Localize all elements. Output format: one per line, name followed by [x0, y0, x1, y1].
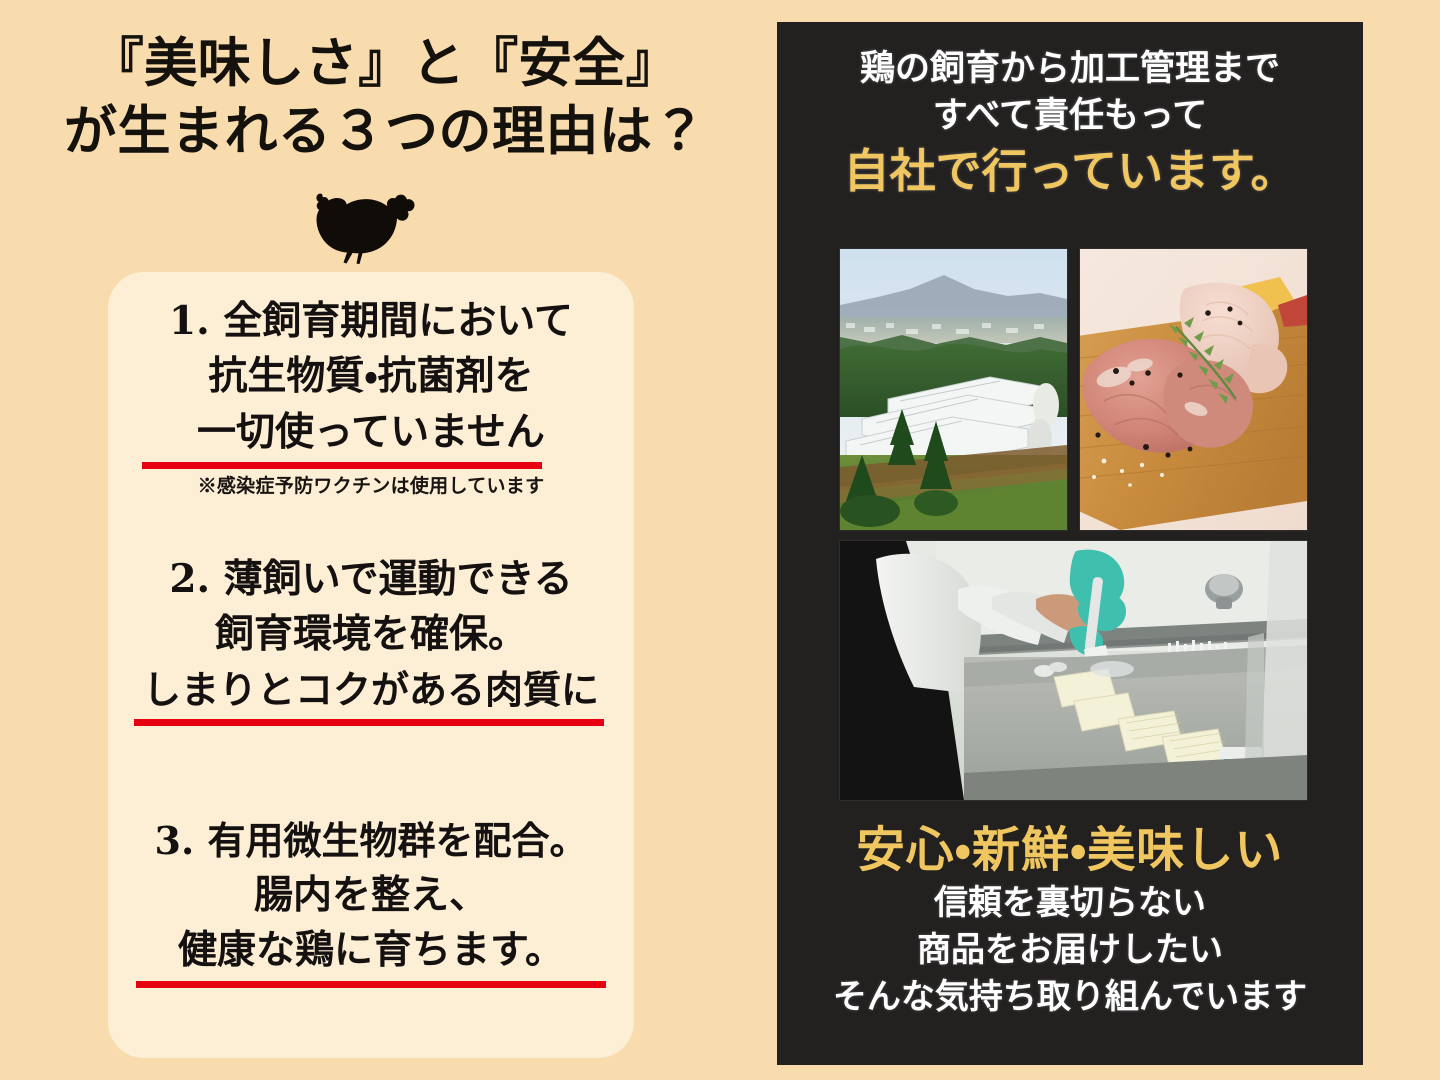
reason-2-line-2: 飼育環境を確保。 [108, 607, 634, 662]
headline-line-1: 『美味しさ』と『安全』 [0, 30, 770, 98]
footer-line-2: 商品をお届けしたい [777, 927, 1363, 974]
reason-2-line-1: 2. 薄飼いで運動できる [108, 552, 634, 607]
reason-1-underline [142, 462, 542, 469]
farm-aerial-photo [840, 249, 1067, 530]
page-headline: 『美味しさ』と『安全』 が生まれる３つの理由は？ [0, 30, 770, 166]
reason-1-line-3: 一切使っていません [108, 405, 634, 460]
panel-headline-line-1: 鶏の飼育から加工管理まで [777, 46, 1363, 93]
panel-headline-line-2: すべて責任もって [777, 93, 1363, 140]
panel-headline-line-3: 自社で行っています。 [777, 143, 1363, 199]
panel-headline: 鶏の飼育から加工管理まで すべて責任もって 自社で行っています。 [777, 46, 1363, 199]
reason-item-3: 3. 有用微生物群を配合。 腸内を整え、 健康な鶏に育ちます。 [108, 814, 634, 988]
footer-line-3: そんな気持ち取り組んでいます [777, 974, 1363, 1021]
poster-canvas: 『美味しさ』と『安全』 が生まれる３つの理由は？ 1. 全飼育期間において 抗生… [0, 0, 1440, 1080]
footer-line-1: 信頼を裏切らない [777, 880, 1363, 927]
reason-3-line-2: 腸内を整え、 [108, 868, 634, 923]
headline-line-2: が生まれる３つの理由は？ [0, 98, 770, 166]
raw-chicken-photo [1080, 249, 1307, 530]
chicken-silhouette-icon [305, 183, 435, 278]
footer-gold-line: 安心・新鮮・美味しい [777, 820, 1363, 880]
reason-2-line-3: しまりとコクがある肉質に [108, 663, 634, 717]
reason-3-line-3: 健康な鶏に育ちます。 [108, 923, 634, 978]
reason-1-note: ※感染症予防ワクチンは使用しています [108, 475, 634, 498]
left-column: 『美味しさ』と『安全』 が生まれる３つの理由は？ 1. 全飼育期間において 抗生… [0, 0, 770, 1080]
right-panel: 鶏の飼育から加工管理まで すべて責任もって 自社で行っています。 [777, 22, 1363, 1065]
panel-footer: 安心・新鮮・美味しい 信頼を裏切らない 商品をお届けしたい そんな気持ち取り組ん… [777, 820, 1363, 1021]
reason-2-underline [134, 719, 604, 726]
reason-item-1: 1. 全飼育期間において 抗生物質・抗菌剤を 一切使っていません ※感染症予防ワ… [108, 294, 634, 498]
reason-1-line-1: 1. 全飼育期間において [108, 294, 634, 349]
reason-item-2: 2. 薄飼いで運動できる 飼育環境を確保。 しまりとコクがある肉質に [108, 552, 634, 726]
reasons-card: 1. 全飼育期間において 抗生物質・抗菌剤を 一切使っていません ※感染症予防ワ… [108, 272, 634, 1058]
laboratory-inspection-photo [840, 541, 1307, 800]
reason-3-underline [136, 981, 606, 988]
reason-3-line-1: 3. 有用微生物群を配合。 [108, 814, 634, 868]
reason-1-line-2: 抗生物質・抗菌剤を [108, 349, 634, 404]
